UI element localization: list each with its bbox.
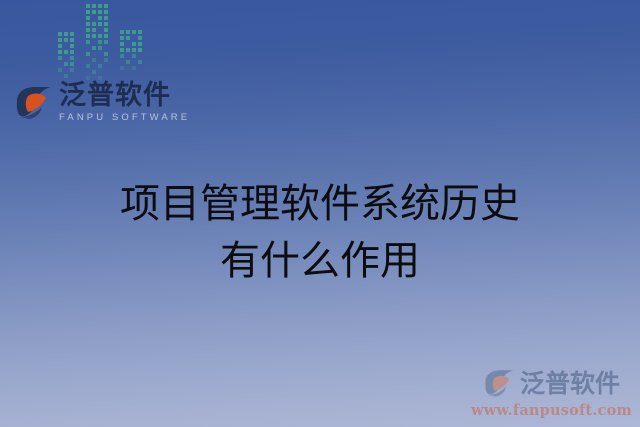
watermark-url: www.fanpusoft.com [471,402,632,419]
fanpu-sail-logo-icon [14,83,54,123]
fanpu-sail-logo-icon [483,367,516,400]
brand-name-cn: 泛普软件 [59,82,190,109]
pixel-city-skyline-icon [36,0,164,84]
brand-name-en: FANPU SOFTWARE [59,112,190,123]
page-title-line-1: 项目管理软件系统历史 [0,176,640,233]
watermark-logo-row: 泛普软件 [483,367,620,400]
watermark-brand-name: 泛普软件 [520,371,620,396]
slide-canvas: 泛普软件 FANPU SOFTWARE 项目管理软件系统历史 有什么作用 泛普软… [0,0,640,427]
page-title-line-2: 有什么作用 [0,233,640,290]
page-title: 项目管理软件系统历史 有什么作用 [0,176,640,290]
watermark: 泛普软件 www.fanpusoft.com [471,367,632,419]
brand-logo: 泛普软件 FANPU SOFTWARE [14,82,190,123]
